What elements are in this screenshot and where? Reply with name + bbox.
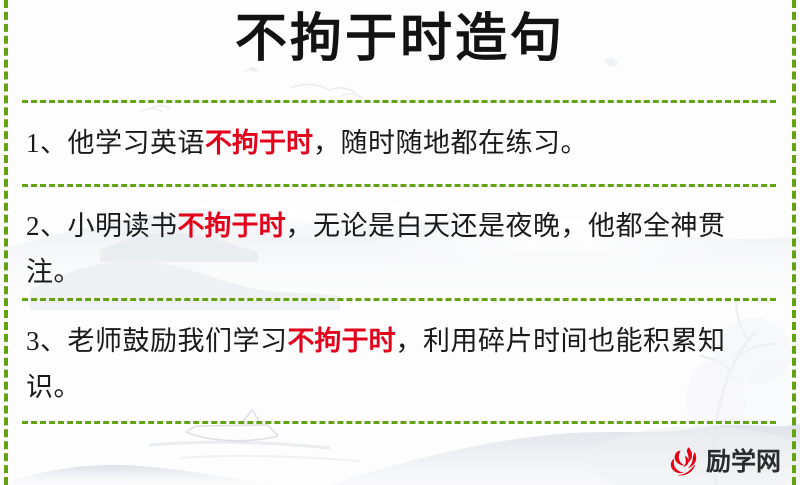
- site-logo-text: 励学网: [706, 450, 781, 475]
- frame-right-dashed-border: [792, 0, 796, 485]
- sentence-1-before: 他学习英语: [68, 128, 206, 158]
- frame-left-dashed-border: [4, 0, 8, 485]
- sentence-3-index: 3、: [26, 326, 68, 356]
- sentence-3-highlight: 不拘于时: [288, 326, 396, 356]
- divider-between-2-and-3: [22, 298, 776, 301]
- slide-canvas: 不拘于时造句 1、他学习英语不拘于时，随时随地都在练习。 2、小明读书不拘于时，…: [0, 0, 800, 485]
- divider-bottom: [22, 421, 776, 424]
- sentence-2-highlight: 不拘于时: [178, 211, 286, 241]
- sentence-1-after: ，随时随地都在练习。: [313, 128, 588, 158]
- sentence-item-3: 3、老师鼓励我们学习不拘于时，利用碎片时间也能积累知识。: [26, 318, 768, 410]
- divider-top: [22, 100, 776, 103]
- sentence-item-2: 2、小明读书不拘于时，无论是白天还是夜晚，他都全神贯注。: [26, 203, 768, 295]
- red-swirl-flame-icon: [668, 445, 702, 479]
- sentence-3-before: 老师鼓励我们学习: [68, 326, 288, 356]
- site-logo[interactable]: 励学网: [668, 442, 786, 482]
- sentence-1-highlight: 不拘于时: [205, 128, 313, 158]
- page-title: 不拘于时造句: [0, 11, 800, 68]
- sentence-2-before: 小明读书: [68, 211, 178, 241]
- sentence-1-index: 1、: [26, 128, 68, 158]
- sentence-2-index: 2、: [26, 211, 68, 241]
- divider-between-1-and-2: [22, 184, 776, 187]
- sentence-item-1: 1、他学习英语不拘于时，随时随地都在练习。: [26, 120, 768, 166]
